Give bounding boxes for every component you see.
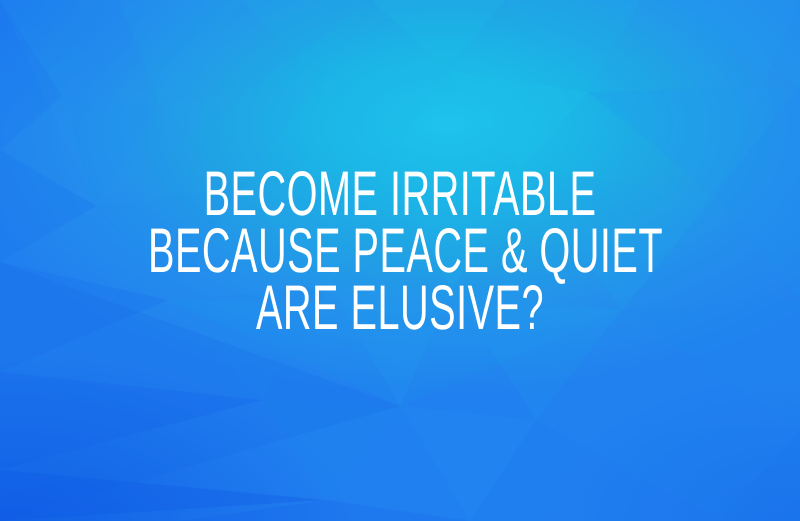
slide-canvas: BECOME IRRITABLE BECAUSE PEACE & QUIET A… <box>0 0 800 521</box>
headline-line-2: BECAUSE PEACE & QUIET <box>148 223 652 280</box>
headline-line-1: BECOME IRRITABLE <box>148 166 652 223</box>
headline-text-block: BECOME IRRITABLE BECAUSE PEACE & QUIET A… <box>0 166 800 337</box>
headline-line-3: ARE ELUSIVE? <box>148 280 652 337</box>
